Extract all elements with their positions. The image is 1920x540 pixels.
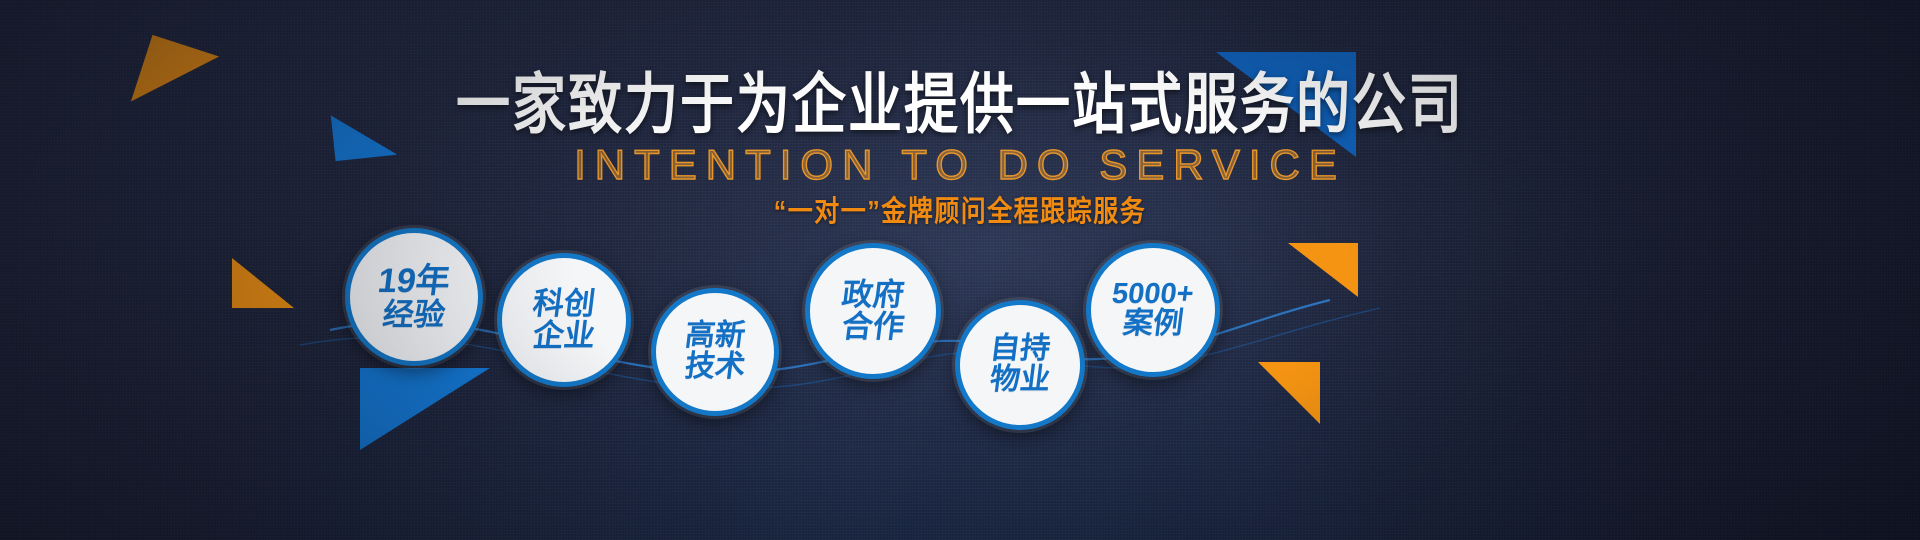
feature-badge[interactable]: 高新技术	[651, 288, 779, 416]
feature-badge-line2: 物业	[988, 365, 1052, 396]
feature-badge-line1: 政府	[840, 279, 906, 311]
triangle-orange-mid-right	[1288, 243, 1358, 297]
feature-badge[interactable]: 政府合作	[805, 243, 941, 379]
feature-badge-line2: 合作	[840, 311, 906, 343]
feature-badge-line1: 高新	[683, 321, 747, 352]
feature-badge-line1: 5000+	[1110, 280, 1195, 310]
feature-badge[interactable]: 19年经验	[345, 228, 483, 366]
feature-badge-line1: 自持	[988, 334, 1052, 365]
banner-tagline: “一对一”金牌顾问全程跟踪服务	[0, 198, 1920, 227]
feature-badge[interactable]: 科创企业	[497, 253, 631, 387]
triangle-orange-bottom-right	[1258, 362, 1320, 424]
banner-subtitle-english: INTENTION TO DO SERVICE	[0, 142, 1920, 188]
feature-badge[interactable]: 自持物业	[955, 300, 1085, 430]
feature-badge[interactable]: 5000+案例	[1086, 243, 1220, 377]
feature-badge-line1: 19年	[376, 264, 452, 299]
triangle-orange-mid-left	[232, 258, 294, 308]
feature-badge-line1: 科创	[531, 288, 597, 320]
feature-badge-line2: 技术	[683, 352, 747, 383]
feature-badge-line2: 案例	[1121, 309, 1185, 340]
triangle-blue-bottom-left	[360, 368, 490, 450]
banner-headline: 一家致力于为企业提供一站式服务的公司	[0, 72, 1920, 138]
feature-badge-line2: 企业	[531, 320, 597, 352]
feature-badge-line2: 经验	[381, 299, 447, 331]
promo-banner: 一家致力于为企业提供一站式服务的公司 INTENTION TO DO SERVI…	[0, 0, 1920, 540]
